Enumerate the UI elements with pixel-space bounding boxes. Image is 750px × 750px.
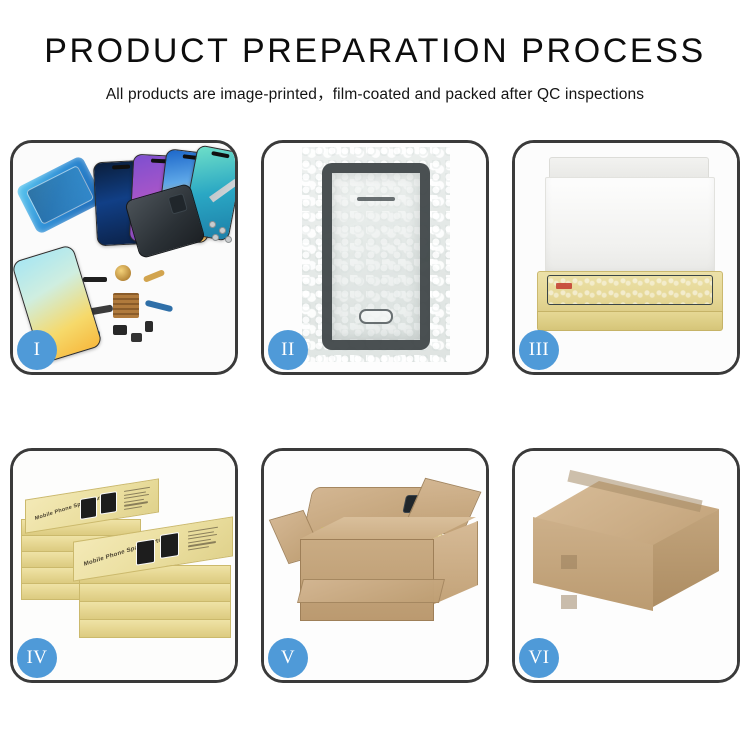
step-badge-5: V xyxy=(268,638,308,678)
page-subtitle: All products are image-printed，film-coat… xyxy=(0,82,750,104)
page-title: PRODUCT PREPARATION PROCESS xyxy=(0,34,750,68)
home-button-icon xyxy=(359,309,393,324)
vibrator-motor-icon xyxy=(131,333,142,342)
step-badge-2: II xyxy=(268,330,308,370)
sim-tray-icon xyxy=(145,321,153,332)
retail-box-screen-thumb-4 xyxy=(160,532,179,559)
spare-parts-group xyxy=(83,263,235,368)
flex-cable-blue-icon xyxy=(145,300,174,313)
foam-padding-icon xyxy=(545,177,715,277)
camera-module-icon xyxy=(113,325,127,335)
process-step-panel-1[interactable]: I xyxy=(10,140,238,375)
step-badge-4: IV xyxy=(17,638,57,678)
process-step-grid: I II III xyxy=(10,140,740,683)
page-header: PRODUCT PREPARATION PROCESS All products… xyxy=(0,0,750,104)
flex-cable-gold-icon xyxy=(143,269,166,283)
process-step-panel-6[interactable]: VI xyxy=(512,448,740,683)
step-badge-1: I xyxy=(17,330,57,370)
step-badge-3: III xyxy=(519,330,559,370)
box-front-flap-icon xyxy=(537,311,723,331)
retail-box-screen-thumb-3 xyxy=(136,539,155,566)
carton-hand-hole-lower-icon xyxy=(561,595,577,609)
screen-label-icon xyxy=(556,283,572,289)
step-badge-6: VI xyxy=(519,638,559,678)
retail-box-front-2 xyxy=(79,583,231,602)
process-step-panel-2[interactable]: II xyxy=(261,140,489,375)
earpiece-mesh-icon xyxy=(83,277,107,282)
process-step-panel-4[interactable]: Mobile Phone Spare Parts Mobile Phone Sp… xyxy=(10,448,238,683)
retail-box-screen-thumb-1 xyxy=(80,496,97,520)
carton-flap-front-icon xyxy=(297,579,445,603)
earpiece-slot-icon xyxy=(357,197,395,201)
speaker-coil-icon xyxy=(115,265,131,281)
retail-box-front-3 xyxy=(79,601,231,620)
retail-box-spec-lines-front xyxy=(188,526,220,553)
packed-screen-icon xyxy=(547,275,713,305)
process-step-panel-3[interactable]: III xyxy=(512,140,740,375)
process-step-panel-5[interactable]: V xyxy=(261,448,489,683)
retail-box-spec-lines-rear xyxy=(124,486,152,512)
bubble-wrap-photo xyxy=(302,147,450,362)
screen-protector-film-icon xyxy=(15,155,105,235)
screws-icon xyxy=(209,221,235,243)
ic-chip-icon xyxy=(113,293,139,318)
retail-box-stack: Mobile Phone Spare Parts Mobile Phone Sp… xyxy=(21,473,233,653)
carton-hand-hole-upper-icon xyxy=(561,555,577,569)
retail-box-front-4 xyxy=(79,619,231,638)
wrapped-screen-icon xyxy=(322,163,430,350)
retail-box-screen-thumb-2 xyxy=(100,491,117,515)
